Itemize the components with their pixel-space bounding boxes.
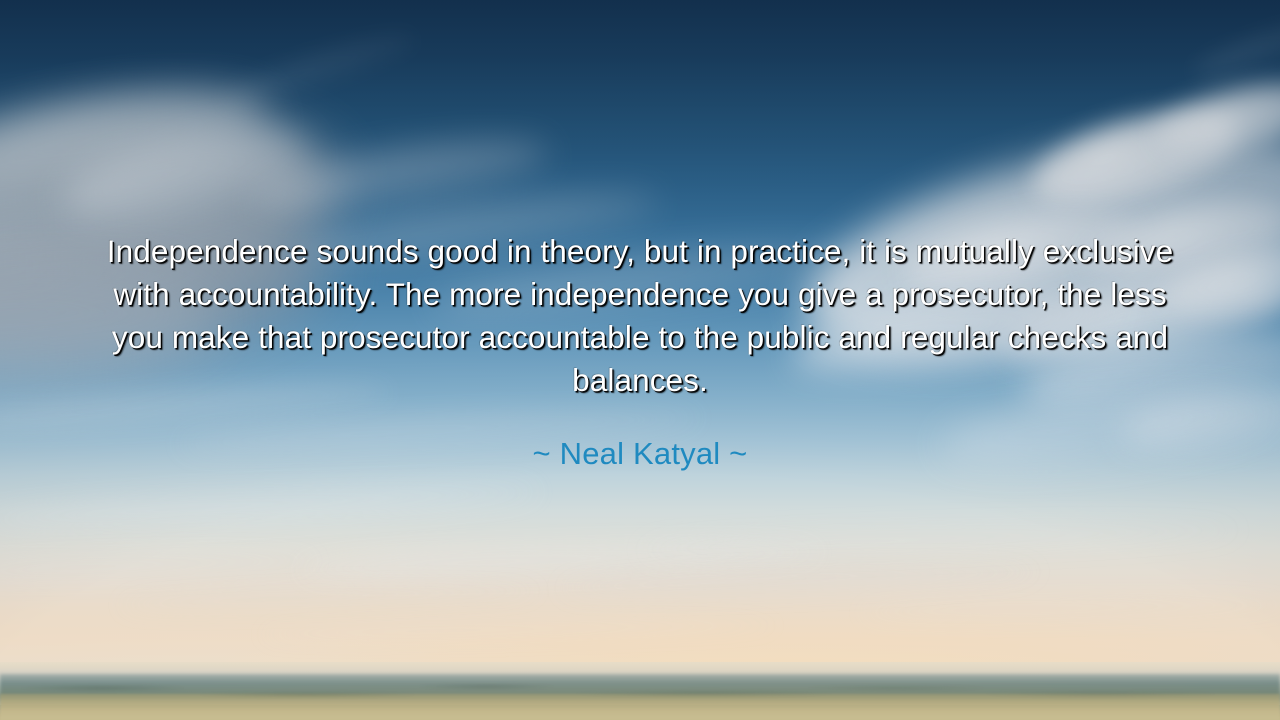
quote-text: Independence sounds good in theory, but … — [103, 230, 1178, 402]
quote-content: Independence sounds good in theory, but … — [0, 0, 1280, 720]
quote-block: Independence sounds good in theory, but … — [103, 230, 1178, 402]
quote-attribution: ~ Neal Katyal ~ — [533, 436, 748, 472]
quote-image-scene: Independence sounds good in theory, but … — [0, 0, 1280, 720]
